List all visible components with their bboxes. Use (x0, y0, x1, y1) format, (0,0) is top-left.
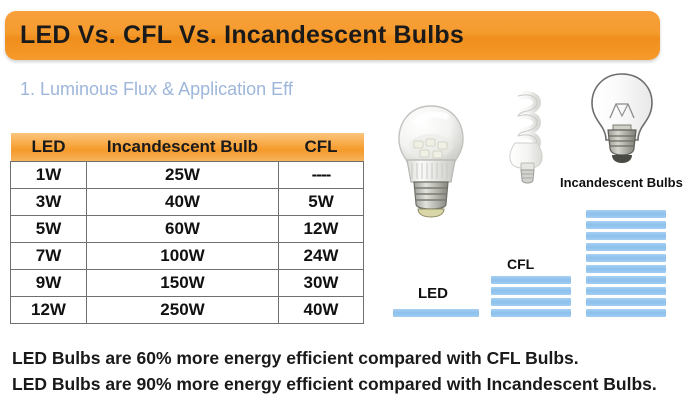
bar-segment (586, 243, 666, 251)
table-row: 9W 150W 30W (11, 270, 364, 297)
page-title: LED Vs. CFL Vs. Incandescent Bulbs (20, 21, 464, 50)
bar-segment (586, 210, 666, 218)
table-header-row: LED Incandescent Bulb CFL (11, 133, 364, 162)
bulb-label-led: LED (418, 285, 448, 302)
cell-incandescent: 60W (87, 216, 279, 243)
footer-line-incandescent: LED Bulbs are 90% more energy efficient … (12, 371, 696, 397)
bar-segment (491, 309, 571, 317)
table-row: 5W 60W 12W (11, 216, 364, 243)
bulb-comparison-chart: LED CFL Incandescent Bulbs (378, 78, 696, 323)
bar-segment (491, 276, 571, 284)
bar-segment (491, 287, 571, 295)
incandescent-bulb-icon (583, 70, 661, 174)
cell-incandescent: 25W (87, 162, 279, 189)
table-row: 3W 40W 5W (11, 189, 364, 216)
cfl-spiral-bulb-icon (500, 88, 558, 194)
cell-led: 12W (11, 297, 87, 324)
cell-incandescent: 250W (87, 297, 279, 324)
column-header-led: LED (11, 133, 87, 162)
led-bulb-icon (390, 100, 472, 232)
cell-cfl: 30W (279, 270, 364, 297)
column-header-incandescent: Incandescent Bulb (87, 133, 279, 162)
cell-cfl: 5W (279, 189, 364, 216)
bar-segment (586, 221, 666, 229)
cell-incandescent: 40W (87, 189, 279, 216)
bulb-label-cfl: CFL (507, 256, 534, 272)
bar-segment (586, 254, 666, 262)
bulb-label-incandescent: Incandescent Bulbs (560, 175, 683, 190)
bar-segment (393, 309, 479, 317)
section-subtitle: 1. Luminous Flux & Application Eff (20, 79, 293, 100)
cell-led: 9W (11, 270, 87, 297)
cell-cfl: 24W (279, 243, 364, 270)
table-row: 12W 250W 40W (11, 297, 364, 324)
column-header-cfl: CFL (279, 133, 364, 162)
bar-segment (586, 232, 666, 240)
cell-led: 3W (11, 189, 87, 216)
cell-cfl: 40W (279, 297, 364, 324)
cell-cfl: ---- (279, 162, 364, 189)
bar-segment (491, 298, 571, 306)
bar-segment (586, 287, 666, 295)
cell-cfl: 12W (279, 216, 364, 243)
bar-stack-incandescent (586, 210, 666, 317)
bar-stack-cfl (491, 276, 571, 317)
bar-stack-led (393, 309, 479, 317)
cell-incandescent: 100W (87, 243, 279, 270)
footer-line-cfl: LED Bulbs are 60% more energy efficient … (12, 345, 696, 371)
bar-segment (586, 298, 666, 306)
cell-led: 1W (11, 162, 87, 189)
header-banner: LED Vs. CFL Vs. Incandescent Bulbs (5, 11, 660, 60)
footer-notes: LED Bulbs are 60% more energy efficient … (12, 345, 696, 397)
bar-segment (586, 276, 666, 284)
infographic-page: LED Vs. CFL Vs. Incandescent Bulbs 1. Lu… (0, 0, 700, 408)
wattage-comparison-table: LED Incandescent Bulb CFL 1W 25W ---- 3W… (10, 133, 364, 324)
cell-incandescent: 150W (87, 270, 279, 297)
cell-led: 7W (11, 243, 87, 270)
bar-segment (586, 309, 666, 317)
bar-segment (586, 265, 666, 273)
table-row: 1W 25W ---- (11, 162, 364, 189)
cell-led: 5W (11, 216, 87, 243)
table-row: 7W 100W 24W (11, 243, 364, 270)
